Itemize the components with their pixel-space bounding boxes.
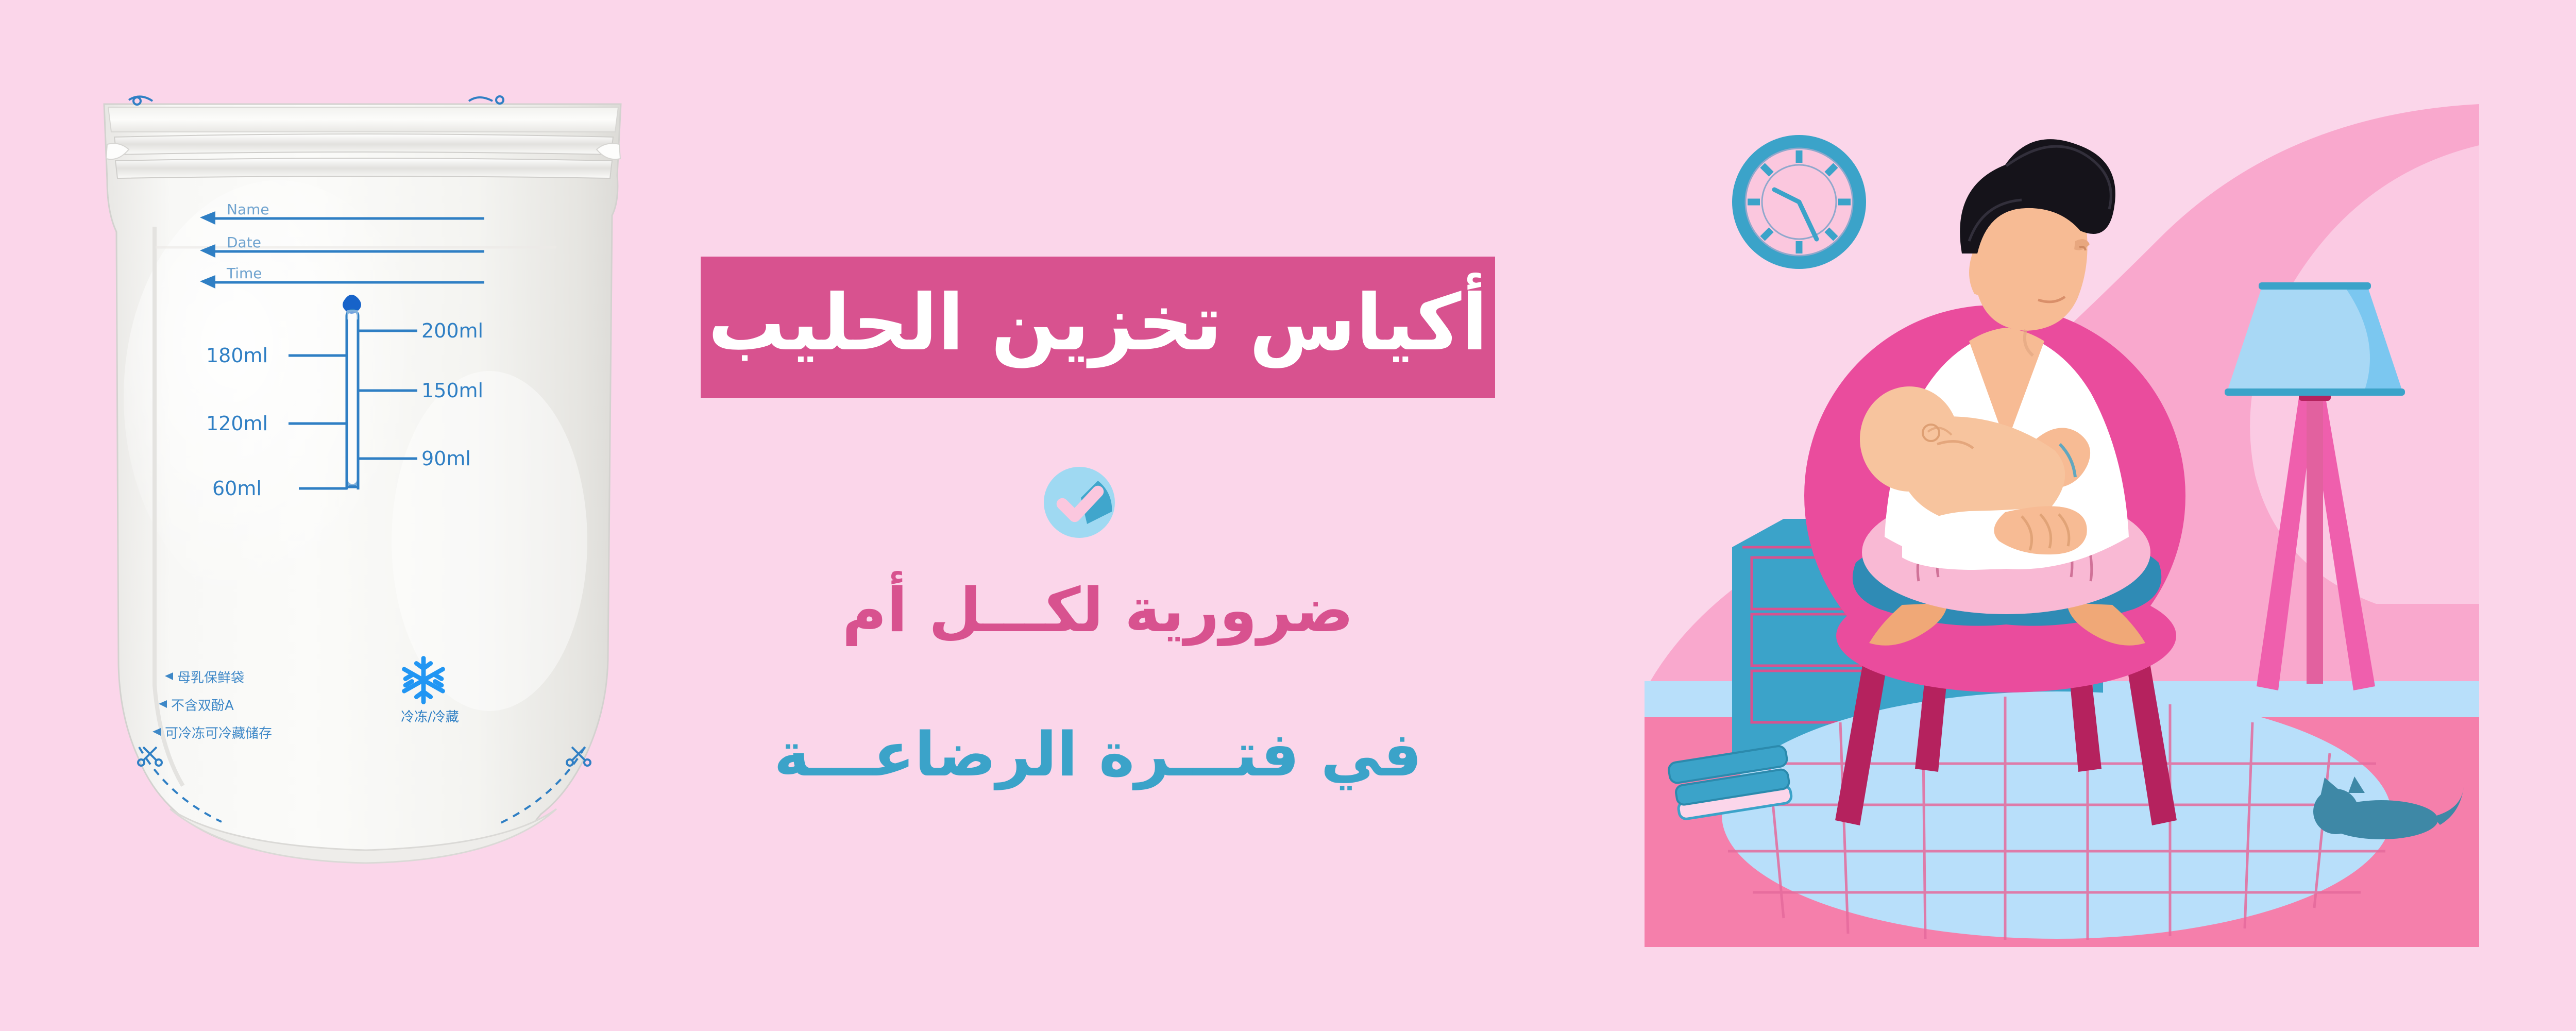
- time-label: Time: [226, 265, 262, 282]
- bottom-note-3: 可冷冻可冷藏储存: [165, 726, 272, 741]
- page-title: أكياس تخزين الحليب: [708, 284, 1488, 362]
- headline-banner: أكياس تخزين الحليب: [701, 257, 1495, 398]
- rug: [1722, 691, 2392, 940]
- subline-during-breastfeeding: في فتـــرة الرضاعـــة: [701, 721, 1495, 788]
- date-label: Date: [227, 234, 261, 251]
- name-label: Name: [227, 201, 269, 218]
- product-image-milk-storage-bag: Name Date Time: [77, 77, 644, 979]
- scale-label-60ml: 60ml: [212, 477, 262, 500]
- bag-zipper: [106, 96, 620, 178]
- wall-clock-icon: [1732, 135, 1866, 269]
- lamp-leg-center: [2307, 395, 2323, 684]
- freeze-label: 冷冻/冷藏: [401, 709, 459, 725]
- scale-label-120ml: 120ml: [206, 412, 268, 435]
- scale-label-200ml: 200ml: [421, 319, 483, 342]
- bottom-note-2: 不含双酚A: [171, 698, 234, 714]
- promo-banner: Name Date Time: [0, 0, 2576, 1031]
- scale-label-180ml: 180ml: [206, 344, 268, 367]
- scale-label-150ml: 150ml: [421, 379, 483, 402]
- illustration-breastfeeding-scene: [1614, 83, 2479, 947]
- check-circle-icon: [1041, 464, 1118, 541]
- scale-label-90ml: 90ml: [421, 447, 471, 470]
- bottom-note-1: 母乳保鲜袋: [177, 670, 244, 686]
- bag-body: [104, 104, 621, 856]
- subline-essential-for-every-mother: ضرورية لكـــل أم: [701, 577, 1495, 644]
